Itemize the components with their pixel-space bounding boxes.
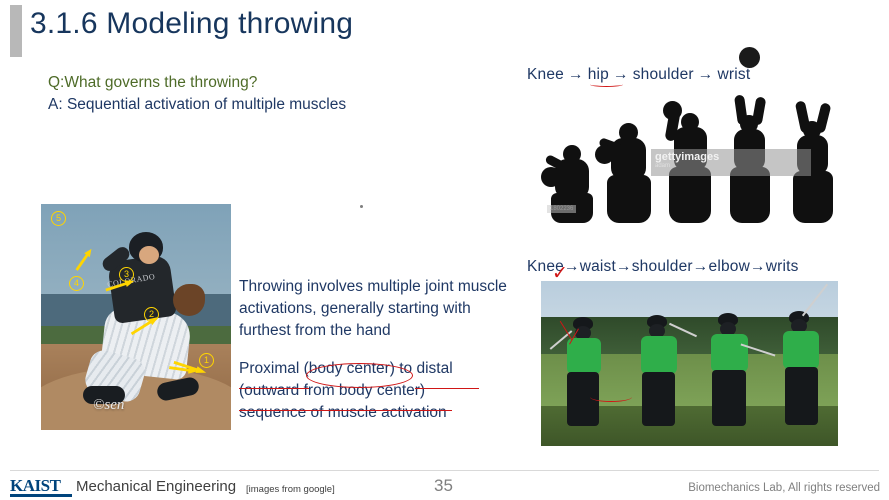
- getty-watermark-subtext: adam: [655, 163, 670, 169]
- golf-2-pants: [642, 372, 675, 426]
- golf-sequence-image: [541, 281, 838, 446]
- slide-canvas: 3.1.6 Modeling throwing Q:What governs t…: [0, 0, 889, 500]
- bb-arrow-3-icon: →: [694, 66, 718, 83]
- department-label: Mechanical Engineering: [76, 478, 236, 495]
- question-text: Q:What governs the throwing?: [48, 72, 346, 94]
- getty-watermark-text: gettyimages: [655, 151, 719, 163]
- golf-3-shirt: [711, 334, 748, 372]
- bb-word-hip: hip: [588, 66, 609, 83]
- golf-figure-2: [634, 315, 690, 435]
- golf-annotation-hip-arc: [590, 392, 632, 402]
- body-text-block: Throwing involves multiple joint muscle …: [239, 276, 524, 424]
- golf-4-shirt: [783, 331, 819, 369]
- annotation-underline-proximal: [239, 388, 309, 389]
- photo-watermark: ©sen: [93, 397, 124, 414]
- annotation-ellipse-body-center: [306, 363, 413, 388]
- annotation-underline-to-distal: [415, 388, 479, 389]
- basketball-sequence-image: gettyimages adam 1802236: [541, 93, 848, 231]
- bb-figure-4-arm2: [752, 96, 767, 125]
- golf-figure-3: [704, 313, 762, 435]
- bb-figure-2-ball: [595, 145, 614, 164]
- bb-word-shoulder: shoulder: [633, 66, 694, 83]
- golf-word-waist: waist: [580, 258, 616, 275]
- body-paragraph-1: Throwing involves multiple joint muscle …: [239, 276, 524, 342]
- annotation-underline-outward: [239, 410, 452, 416]
- golf-1-shirt: [567, 338, 601, 374]
- page-title: 3.1.6 Modeling throwing: [30, 7, 353, 41]
- golf-arrow-4-icon: →: [750, 258, 766, 275]
- answer-text: A: Sequential activation of multiple mus…: [48, 94, 346, 116]
- kaist-logo-underline: [10, 494, 72, 497]
- pitcher-face: [139, 246, 159, 264]
- golf-2-shirt: [641, 336, 677, 374]
- marker-5: 5: [51, 211, 66, 226]
- marker-2: 2: [144, 307, 159, 322]
- basketball-sequence-caption: Knee→hip→shoulder→wrist: [527, 66, 750, 84]
- footer-divider: [10, 470, 879, 471]
- bb-word-knee: Knee: [527, 66, 564, 83]
- baseball-pitcher-image: COLORADO ©sen 1 2 3 4 5: [41, 204, 231, 430]
- pitcher-shoe-right: [156, 376, 201, 402]
- image-source-note: [images from google]: [246, 484, 335, 495]
- title-accent-bar: [10, 5, 22, 57]
- bb-figure-3-ball: [663, 101, 682, 120]
- pitcher-glove: [173, 284, 205, 316]
- bb-figure-5-arm2: [815, 102, 832, 134]
- bb-word-wrist: wrist: [717, 66, 750, 83]
- bb-figure-2-legs: [607, 175, 651, 223]
- golf-word-shoulder: shoulder: [632, 258, 693, 275]
- marker-4: 4: [69, 276, 84, 291]
- bb-figure-5-arm: [795, 100, 811, 133]
- annotation-underline-hip: [590, 82, 623, 87]
- kaist-logo: KAIST: [10, 476, 60, 496]
- bb-arrow-2-icon: →: [609, 66, 633, 83]
- bb-figure-1-ball: [541, 167, 561, 187]
- basketball-ball-icon: [739, 47, 760, 68]
- golf-word-writs: writs: [766, 258, 799, 275]
- golf-figure-4: [777, 305, 835, 435]
- golf-arrow-2-icon: →: [616, 258, 632, 275]
- stray-dot: [360, 205, 363, 208]
- golf-arrow-3-icon: →: [693, 258, 709, 275]
- qa-block: Q:What governs the throwing? A: Sequenti…: [48, 72, 346, 116]
- copyright-note: Biomechanics Lab, All rights reserved: [688, 482, 880, 494]
- getty-image-id: 1802236: [547, 205, 576, 213]
- marker-1: 1: [199, 353, 214, 368]
- marker-3: 3: [119, 267, 134, 282]
- bb-figure-5-legs: [793, 171, 833, 223]
- page-number: 35: [434, 476, 453, 496]
- golf-4-pants: [785, 367, 818, 425]
- golf-word-elbow: elbow: [709, 258, 751, 275]
- bb-floor-strip: [541, 225, 848, 231]
- bb-figure-4-arm: [734, 94, 748, 125]
- golf-3-pants: [712, 370, 746, 426]
- bb-arrow-1-icon: →: [564, 66, 588, 83]
